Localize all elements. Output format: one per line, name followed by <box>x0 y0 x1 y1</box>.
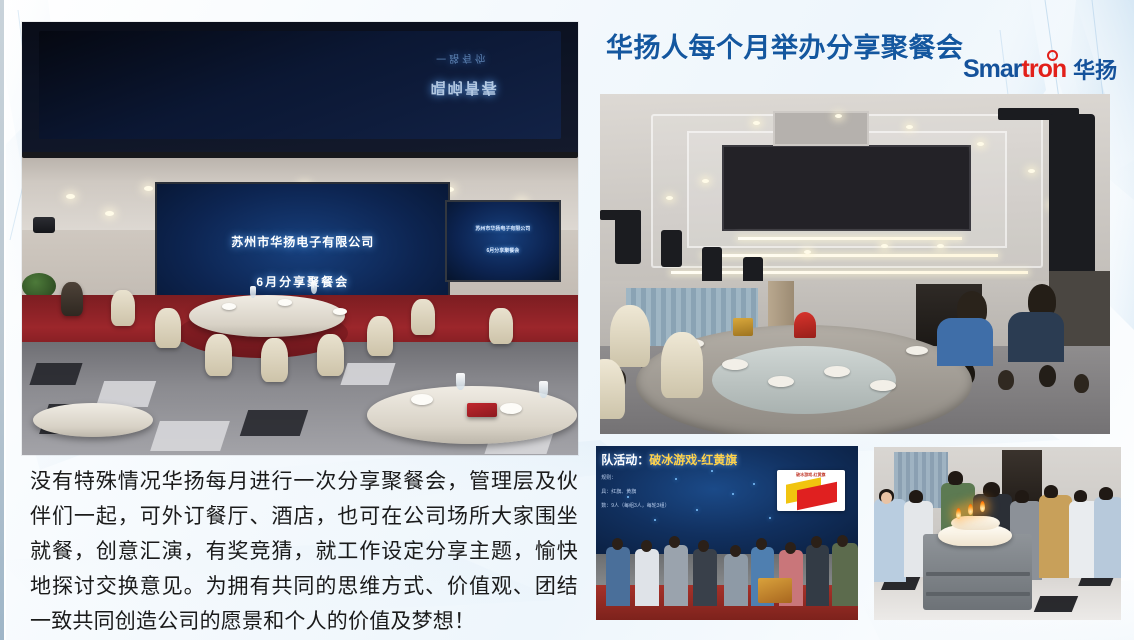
left-edge-highlight <box>4 0 6 640</box>
hall-chair <box>489 308 513 344</box>
page-title: 华扬人每个月举办分享聚餐会 <box>606 26 964 65</box>
logo-tron-text: tron <box>1022 55 1067 83</box>
banquet-chair <box>610 305 650 367</box>
hall-chair <box>367 316 393 356</box>
game-screen-sub3: 数：9人（每组3人，每轮3组） <box>601 502 669 509</box>
banquet-centerpiece <box>794 312 816 338</box>
photo-birthday-cake <box>874 447 1121 620</box>
game-screen-title-prefix: 队活动： <box>601 453 649 467</box>
game-person <box>664 545 688 606</box>
banquet-coffer-inner <box>722 145 971 231</box>
banquet-truss-column <box>1049 114 1095 291</box>
game-held-flag <box>758 578 792 602</box>
hall-table <box>33 403 153 437</box>
banquet-dish <box>906 346 928 355</box>
game-person <box>606 547 630 606</box>
slide-root: 华扬人每个月举办分享聚餐会 Smartron 华扬 一路有你 唱响青春 <box>0 0 1134 640</box>
hall-led-side-line1: 苏州市华扬电子有限公司 <box>447 225 560 232</box>
hall-led-top-text2: 一路有你 <box>436 52 488 67</box>
photo-banquet-room <box>600 94 1110 434</box>
hall-glass <box>456 373 465 390</box>
hall-truss-beam <box>22 152 578 158</box>
banquet-gold-dish <box>733 318 753 336</box>
body-caption: 没有特殊情况华扬每月进行一次分享聚餐会，管理层及伙伴们一起，可外订餐厅、酒店，也… <box>30 464 578 639</box>
hall-plate <box>278 299 292 306</box>
logo-smar-text: Smar <box>963 55 1022 83</box>
logo-text-group: Smartron <box>963 57 1066 82</box>
hall-led-main-line1: 苏州市华扬电子有限公司 <box>157 233 448 250</box>
hall-led-top-screen: 一路有你 唱响青春 <box>39 31 562 139</box>
banquet-person-body <box>937 318 993 366</box>
hall-table <box>189 295 345 337</box>
game-flag-caption: 破冰游戏-红黄旗 <box>777 472 845 478</box>
game-screen-sub1: 规则： <box>601 474 616 481</box>
hall-chair <box>205 334 232 376</box>
hall-led-top-text: 唱响青春 <box>431 78 499 99</box>
hall-glass <box>539 381 548 398</box>
banquet-lazy-susan <box>712 346 896 414</box>
hall-led-main-line2: 6月分享聚餐会 <box>157 273 448 290</box>
photo-birthday-cake-content <box>874 447 1121 620</box>
banquet-dish <box>870 380 896 391</box>
hall-speaker <box>33 217 55 233</box>
game-flag-illustration: 破冰游戏-红黄旗 <box>777 470 845 511</box>
banquet-person-body <box>1008 312 1064 362</box>
photo-conference-hall: 一路有你 唱响青春 苏州市华扬电子有限公司 6月分享聚餐会 苏州市华扬电子有限公… <box>22 22 578 455</box>
hall-plate <box>333 308 347 315</box>
hall-gift-box <box>467 403 497 417</box>
cake-person <box>874 499 906 582</box>
game-person <box>724 554 748 606</box>
game-screen-title-highlight: 破冰游戏-红黄旗 <box>649 453 737 467</box>
game-person <box>806 545 830 606</box>
hall-chair <box>261 338 288 382</box>
banquet-light-rig <box>615 216 641 264</box>
hall-chair <box>111 290 135 326</box>
logo-tron-label: tron <box>1022 55 1067 83</box>
game-person <box>635 549 659 606</box>
hall-chair <box>61 282 83 316</box>
hall-led-side-line2: 6月分享聚餐会 <box>447 247 560 254</box>
hall-chair <box>317 334 344 376</box>
photo-banquet-room-content <box>600 94 1110 434</box>
hall-glass <box>311 282 317 294</box>
hall-led-side-screen: 苏州市华扬电子有限公司 6月分享聚餐会 <box>445 200 562 282</box>
game-screen-sub2: 具：红旗、黄旗 <box>601 488 636 495</box>
brand-logo: Smartron 华扬 <box>963 57 1117 82</box>
banquet-light-rig <box>661 230 681 267</box>
banquet-light-rig <box>702 247 722 284</box>
photo-icebreaker-game: 队活动：破冰游戏-红黄旗 规则： 具：红旗、黄旗 数：9人（每组3人，每轮3组）… <box>596 446 858 620</box>
game-screen-title: 队活动：破冰游戏-红黄旗 <box>601 451 737 468</box>
game-person <box>693 549 717 606</box>
hall-chair <box>155 308 181 348</box>
logo-ring-icon <box>1047 50 1058 61</box>
cake-person <box>1039 495 1071 578</box>
hall-glass <box>250 286 256 298</box>
photo-conference-hall-content: 一路有你 唱响青春 苏州市华扬电子有限公司 6月分享聚餐会 苏州市华扬电子有限公… <box>22 22 578 455</box>
game-person <box>832 543 858 606</box>
cake-person <box>1094 497 1121 578</box>
photo-icebreaker-game-content: 队活动：破冰游戏-红黄旗 规则： 具：红旗、黄旗 数：9人（每组3人，每轮3组）… <box>596 446 858 620</box>
hall-chair <box>411 299 435 335</box>
banquet-ac-vent <box>773 111 869 146</box>
banquet-chair <box>661 332 703 398</box>
logo-chinese-text: 华扬 <box>1073 60 1117 82</box>
